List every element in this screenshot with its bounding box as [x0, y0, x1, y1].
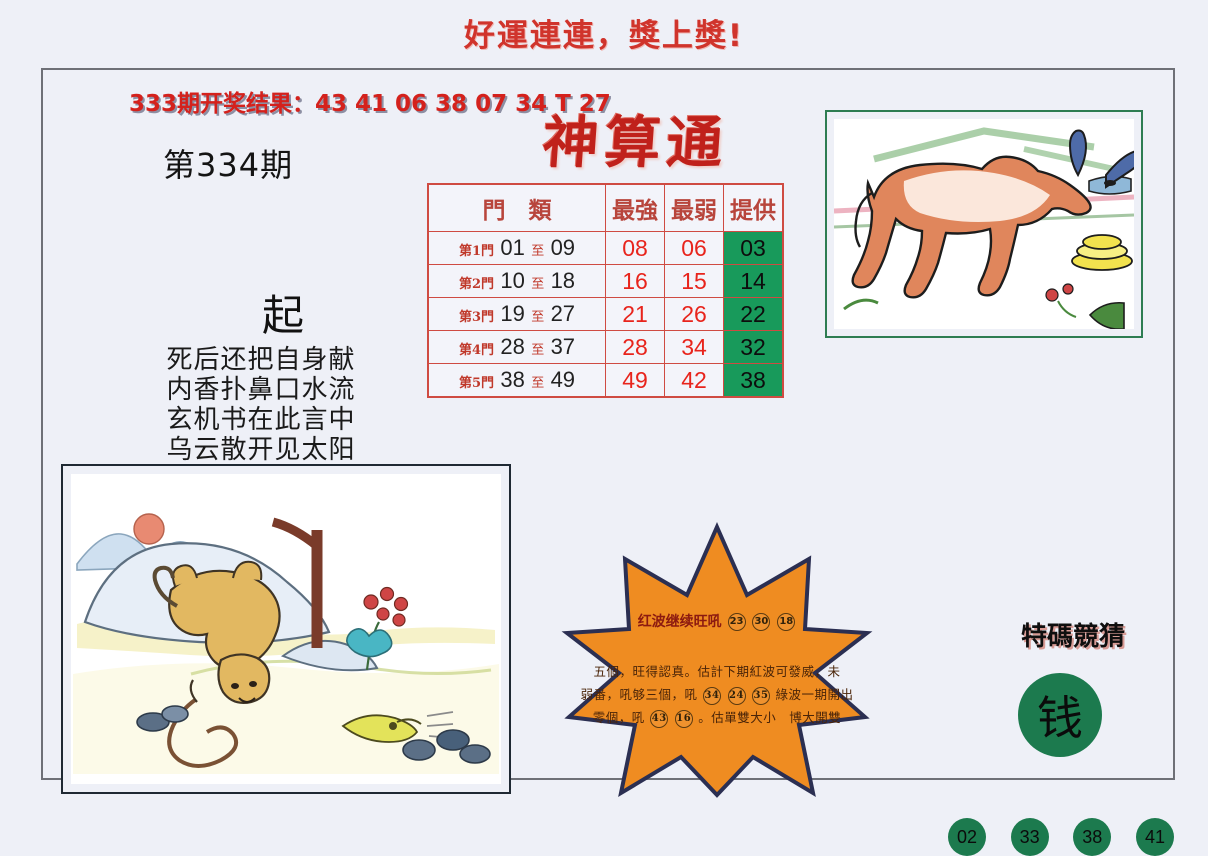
cell-category: 第2門 10 至 18: [428, 265, 606, 298]
cell-strongest: 16: [606, 265, 665, 298]
cell-offer: 32: [724, 331, 784, 364]
cell-weakest: 34: [665, 331, 724, 364]
banner-slogan: 好運連連，獎上獎!: [464, 10, 744, 55]
cell-weakest: 15: [665, 265, 724, 298]
range-to: 37: [551, 334, 575, 359]
range-to: 18: [551, 268, 575, 293]
table-header-row: 門 類 最強 最弱 提供: [428, 184, 783, 232]
range-to: 09: [551, 235, 575, 260]
poem-line: 死后还把自身献: [151, 345, 371, 375]
special-number-main-ball: 钱: [1018, 673, 1102, 757]
range-from: 28: [500, 334, 524, 359]
cell-category: 第3門 19 至 27: [428, 298, 606, 331]
cell-category: 第5門 38 至 49: [428, 364, 606, 398]
range-separator: 至: [531, 310, 544, 325]
tiger-illustration-canvas: [71, 474, 501, 784]
poem-body: 死后还把自身献 内香扑鼻口水流 玄机书在此言中 乌云散开见太阳: [151, 345, 371, 465]
header-strongest: 最強: [606, 184, 665, 232]
cell-weakest: 26: [665, 298, 724, 331]
starburst-panel: 红波继续旺吼 23 30 18 五個，旺得認真。估計下期紅波可發威，未 弱番，吼…: [561, 521, 873, 801]
ox-illustration-svg: [834, 119, 1134, 329]
range-from: 01: [500, 235, 524, 260]
previous-draw-result: 333期开奖结果：43 41 06 38 07 34 T 27: [129, 84, 611, 118]
header-offer: 提供: [724, 184, 784, 232]
table-row: 第3門 19 至 27 21 26 22: [428, 298, 783, 331]
site-logo: 神算通: [540, 98, 732, 179]
special-number-ball: 41: [1136, 818, 1174, 856]
gate-label: 第3門: [459, 310, 494, 325]
special-number-row: 02 33 38 41: [948, 818, 1174, 856]
cell-category: 第1門 01 至 09: [428, 232, 606, 265]
special-number-ball: 38: [1073, 818, 1111, 856]
range-from: 38: [500, 367, 524, 392]
table-row: 第2門 10 至 18 16 15 14: [428, 265, 783, 298]
cell-strongest: 21: [606, 298, 665, 331]
range-separator: 至: [531, 376, 544, 391]
cell-strongest: 49: [606, 364, 665, 398]
cell-strongest: 28: [606, 331, 665, 364]
cell-weakest: 06: [665, 232, 724, 265]
table-row: 第5門 38 至 49 49 42 38: [428, 364, 783, 398]
tiger-illustration-svg: [71, 474, 501, 784]
cell-offer: 03: [724, 232, 784, 265]
header-category: 門 類: [428, 184, 606, 232]
range-to: 49: [551, 367, 575, 392]
main-panel: 333期开奖结果：43 41 06 38 07 34 T 27 第334期 神算…: [41, 68, 1175, 780]
poem-line: 玄机书在此言中: [151, 405, 371, 435]
cell-offer: 22: [724, 298, 784, 331]
cell-offer: 38: [724, 364, 784, 398]
special-number-guess-title: 特碼競猜: [983, 616, 1163, 653]
poem-line: 内香扑鼻口水流: [151, 375, 371, 405]
gate-label: 第2門: [459, 277, 494, 292]
gate-label: 第1門: [459, 244, 494, 259]
poem-line: 乌云散开见太阳: [151, 435, 371, 465]
special-number-ball: 02: [948, 818, 986, 856]
gate-label: 第5門: [459, 376, 494, 391]
range-from: 10: [500, 268, 524, 293]
gate-label: 第4門: [459, 343, 494, 358]
ox-illustration: [825, 110, 1143, 338]
issue-number: 第334期: [163, 140, 293, 186]
special-number-ball: 33: [1011, 818, 1049, 856]
table-row: 第1門 01 至 09 08 06 03: [428, 232, 783, 265]
gate-strength-table: 門 類 最強 最弱 提供 第1門 01 至 09 08 06 03 第2門: [427, 183, 784, 398]
range-separator: 至: [531, 343, 544, 358]
starburst-shape: [561, 521, 873, 801]
ox-illustration-canvas: [834, 119, 1134, 329]
cell-weakest: 42: [665, 364, 724, 398]
range-from: 19: [500, 301, 524, 326]
tiger-illustration: [61, 464, 511, 794]
top-banner: 好運連連，獎上獎!: [0, 8, 1208, 56]
cell-offer: 14: [724, 265, 784, 298]
cell-strongest: 08: [606, 232, 665, 265]
range-separator: 至: [531, 277, 544, 292]
cell-category: 第4門 28 至 37: [428, 331, 606, 364]
table-row: 第4門 28 至 37 28 34 32: [428, 331, 783, 364]
range-to: 27: [551, 301, 575, 326]
poem-heading: 起: [193, 282, 373, 343]
header-weakest: 最弱: [665, 184, 724, 232]
range-separator: 至: [531, 244, 544, 259]
